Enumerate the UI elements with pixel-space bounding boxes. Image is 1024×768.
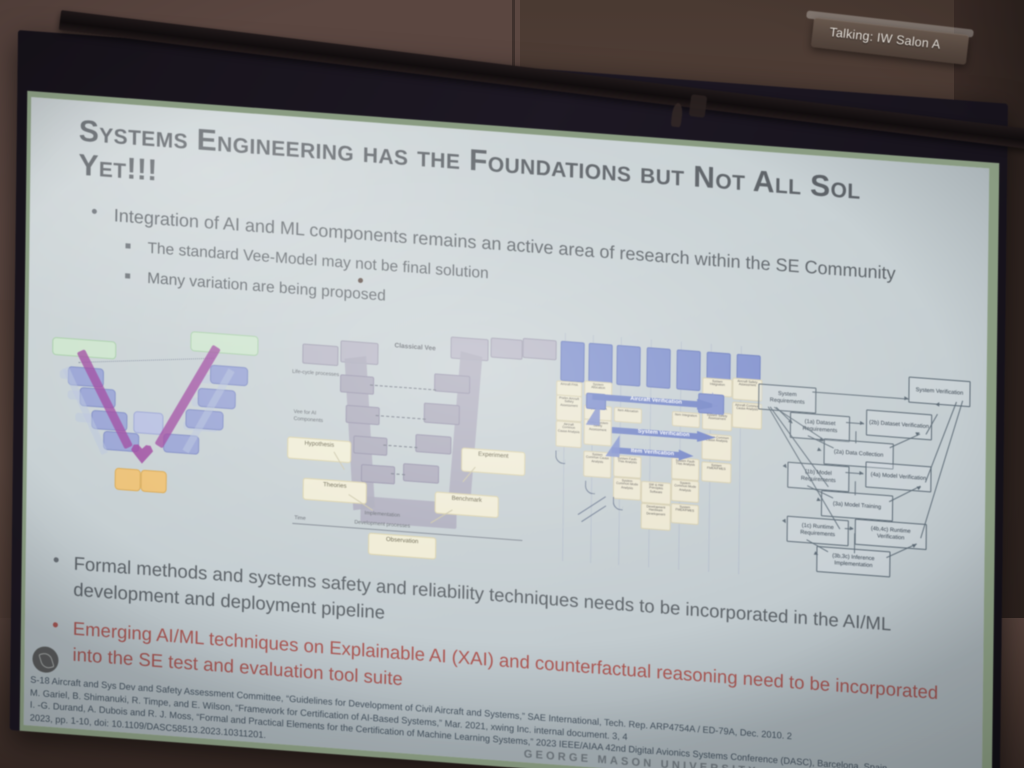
figC-wedge-2 (605, 434, 619, 457)
figB-box-hypothesis: Hypothesis (287, 436, 351, 463)
figC-node: Aircraft Common Cause Analysis (555, 420, 581, 448)
figA-side-label (42, 376, 62, 377)
figD-arrowhead (817, 447, 822, 452)
figB-right-node-3 (415, 434, 451, 455)
figD-edge-vertical (855, 481, 856, 495)
figB-dashed-3 (383, 445, 417, 449)
bullet-square-icon (125, 243, 130, 248)
figD-node-1c-runtime-requirements: (1c) Runtime Requirements (787, 516, 849, 547)
figB-right-node-1 (434, 373, 470, 394)
figure-purple-v-model (40, 306, 275, 533)
figB-topright-box-3 (523, 338, 557, 361)
figA-node-center (133, 411, 163, 435)
figure-classical-vee: Classical Vee Vee for AI Components Life… (282, 318, 557, 570)
figD-arrowhead (860, 421, 864, 425)
figC-col-header (588, 343, 612, 385)
figC-node: SW & HW Principles Software (641, 481, 671, 505)
figC-node: System Common Mode Analysis (671, 479, 699, 503)
figA-bottom-box-1 (115, 468, 141, 492)
slide-content: Systems Engineering has the Foundations … (24, 97, 990, 768)
figB-title: Classical Vee (395, 342, 436, 352)
photo-scene: Systems Engineering has the Foundations … (0, 0, 1024, 768)
figA-top-right-box (190, 331, 258, 356)
figD-arrowhead (904, 396, 908, 400)
figC-col-header (646, 347, 670, 389)
figD-arrowhead (936, 401, 941, 406)
figA-dotted-link (78, 358, 214, 363)
figC-node: Development Hardware Development (641, 503, 671, 531)
figC-col-header (676, 349, 700, 391)
figC-wedge-1 (586, 401, 600, 426)
figD-edge-vertical (855, 431, 856, 443)
figC-arrow-system-verification: System Verification (612, 425, 716, 444)
bullet-dot-icon (53, 622, 58, 627)
figB-lifecycle-label: Life-cycle processes (292, 369, 339, 379)
projection-screen: Systems Engineering has the Foundations … (10, 30, 1008, 768)
figC-node: System Fault-Tree Analysis (671, 457, 699, 481)
figD-node-1b-model-requirements: (1b) Model Requirements (787, 462, 849, 493)
figB-dashed-2 (376, 415, 426, 420)
figB-subtitle: Vee for AI Components (294, 409, 334, 425)
figD-node-2b-dataset-verification: (2b) Dataset Verification (866, 409, 932, 440)
figC-hook-icon (555, 450, 565, 464)
figD-node-system-requirements: System Requirements (758, 383, 816, 413)
figC-node: System Fault-Tree Analysis (613, 455, 641, 479)
figB-left-node-3 (353, 435, 387, 456)
figB-right-node-2 (424, 403, 460, 426)
figB-dashed-1 (370, 385, 436, 391)
figD-arrowhead (859, 471, 863, 475)
figC-wedge-3 (712, 392, 724, 415)
bullet-dot-icon (92, 209, 97, 214)
mount-clip-icon (689, 94, 708, 118)
figC-node: System FMEA/FMES (701, 461, 731, 483)
bullet-dot-icon (54, 557, 59, 562)
mount-screw-icon (358, 278, 363, 283)
figC-node: System FMEA/FMES (671, 503, 699, 525)
figD-arrowhead (850, 526, 854, 530)
figure-safety-grid: Aircraft FHA Prelim Aircraft Safety Asse… (552, 332, 767, 576)
figC-col-header (560, 341, 584, 383)
figC-node: Prelim Aircraft Safety Assessment (556, 394, 582, 422)
figB-topleft-box-1 (302, 343, 338, 366)
figC-col-header (616, 345, 640, 387)
figC-node: Item Integration (672, 411, 700, 428)
figure-ml-certification-flow: System Requirements System Verification … (754, 357, 983, 602)
room-sign-label: Talking: IW Salon A (829, 25, 941, 52)
figB-left-node-2 (346, 405, 380, 426)
figC-hook-icon (585, 481, 595, 495)
figB-box-observation: Observation (368, 533, 436, 560)
figB-topright-box-2 (490, 337, 522, 359)
slide-surface: Systems Engineering has the Foundations … (24, 97, 990, 768)
bullet-square-icon (125, 273, 130, 278)
figD-edge (812, 391, 908, 399)
figC-node: Item Allocation (614, 407, 642, 424)
figA-bottom-box-2 (141, 470, 167, 494)
figB-time-label: Time (294, 515, 305, 522)
figA-heart-arrow (131, 443, 153, 465)
figC-hook-icon (613, 497, 623, 511)
figB-left-node-1 (340, 374, 374, 395)
figB-left-node-4 (361, 464, 395, 485)
figB-right-node-4 (403, 463, 439, 484)
